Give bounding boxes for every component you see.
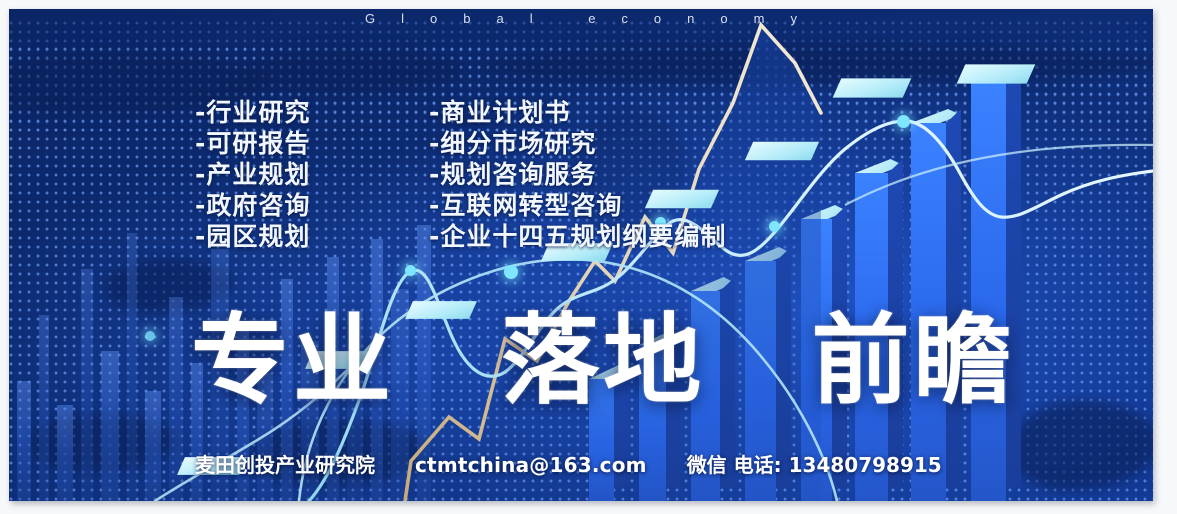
- service-item: -商业计划书: [429, 97, 726, 128]
- service-item: -规划咨询服务: [429, 159, 726, 190]
- service-item: -可研报告: [195, 128, 310, 159]
- services-list-right: -商业计划书 -细分市场研究 -规划咨询服务 -互联网转型咨询 -企业十四五规划…: [429, 97, 726, 252]
- screenshot-canvas: Global economy -行业研究 -可研报告 -产业规划 -政府咨询 -…: [0, 0, 1177, 514]
- node-dot: [405, 265, 416, 276]
- contact-email[interactable]: ctmtchina@163.com: [415, 453, 647, 477]
- organization-name: 麦田创投产业研究院: [195, 449, 375, 478]
- diamond-marker: [745, 142, 819, 160]
- node-dot: [504, 265, 518, 279]
- service-item: -企业十四五规划纲要编制: [429, 221, 726, 252]
- headline-word-1: 专业: [191, 304, 395, 418]
- service-item: -产业规划: [195, 159, 310, 190]
- marketing-banner: Global economy -行业研究 -可研报告 -产业规划 -政府咨询 -…: [9, 9, 1153, 501]
- diamond-marker: [957, 64, 1036, 83]
- services-list-left: -行业研究 -可研报告 -产业规划 -政府咨询 -园区规划: [195, 97, 310, 252]
- service-item: -行业研究: [195, 97, 310, 128]
- headline-word-3: 前瞻: [812, 304, 1016, 418]
- service-item: -细分市场研究: [429, 128, 726, 159]
- node-dot: [897, 115, 910, 128]
- headline-word-2: 落地: [501, 304, 705, 418]
- cyan-wide-arc: [845, 145, 1153, 205]
- service-item: -园区规划: [195, 221, 310, 252]
- headline-slogan: 专业 落地 前瞻: [191, 309, 1016, 413]
- diamond-marker: [833, 78, 912, 97]
- service-item: -互联网转型咨询: [429, 190, 726, 221]
- contact-phone: 微信 电话: 13480798915: [687, 449, 942, 478]
- node-dot: [769, 221, 780, 232]
- banner-eyebrow-text: Global economy: [9, 11, 1153, 26]
- service-item: -政府咨询: [195, 190, 310, 221]
- node-dot: [145, 331, 155, 341]
- footer-contact-line: 麦田创投产业研究院 ctmtchina@163.com 微信 电话: 13480…: [195, 449, 942, 478]
